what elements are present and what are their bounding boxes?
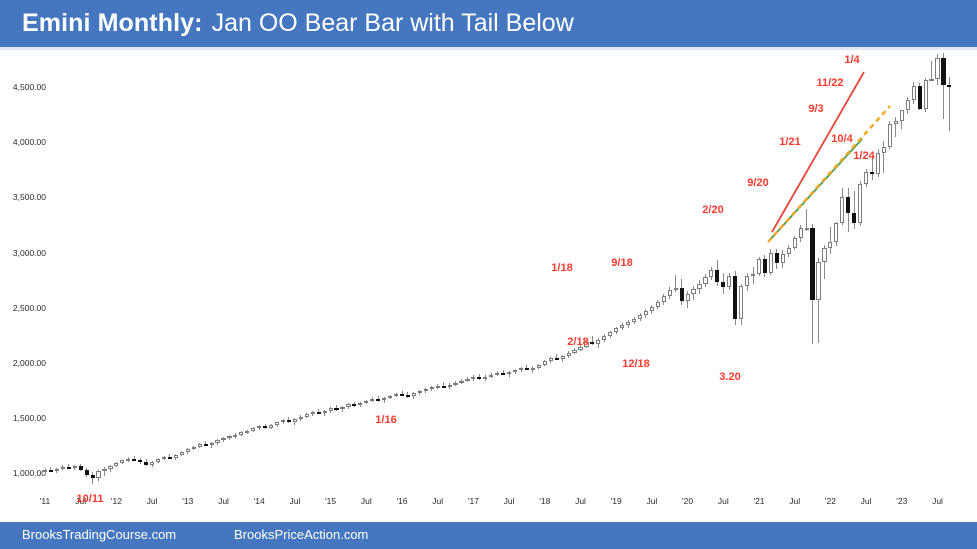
footer-banner: BrooksTradingCourse.com BrooksPriceActio… [0,522,977,549]
page-title-rest: Jan OO Bear Bar with Tail Below [212,9,574,38]
chart-plot-area: 1,000.001,500.002,000.002,500.003,000.00… [0,50,977,520]
chart-annotation-label: 1/16 [375,414,396,426]
chart-annotation-label: 10/11 [77,493,104,505]
chart-annotation-label: 9/18 [611,257,632,269]
chart-annotation-label: 1/24 [853,150,874,162]
chart-annotation-label: 11/22 [817,77,844,89]
chart-annotation-label: 3.20 [719,371,740,383]
header-title-group: Emini Monthly: Jan OO Bear Bar with Tail… [22,0,574,47]
header-banner: Emini Monthly: Jan OO Bear Bar with Tail… [0,0,977,47]
footer-link-price-action[interactable]: BrooksPriceAction.com [234,527,368,542]
chart-annotation-label: 1/21 [779,136,800,148]
chart-annotation-label: 1/4 [844,54,859,66]
chart-annotation-label: 10/4 [831,133,852,145]
chart-annotation-label: 2/20 [702,204,723,216]
chart-annotation-label: 1/18 [551,262,572,274]
chart-annotation-label: 9/20 [747,177,768,189]
chart-annotation-label: 12/18 [622,358,650,370]
chart-page: Emini Monthly: Jan OO Bear Bar with Tail… [0,0,977,549]
chart-annotation-label: 9/3 [808,103,823,115]
footer-link-trading-course[interactable]: BrooksTradingCourse.com [22,527,176,542]
page-title-strong: Emini Monthly: [22,9,203,38]
chart-annotation-label: 2/18 [567,336,588,348]
annotation-layer: 10/111/161/182/189/1812/182/203.209/201/… [0,50,977,520]
